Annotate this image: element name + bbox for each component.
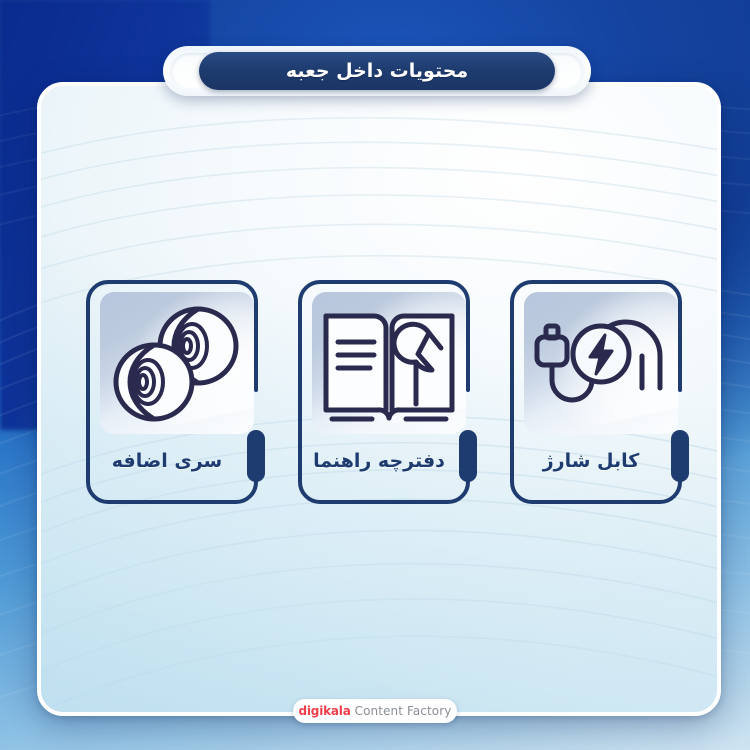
title-pill: محتویات داخل جعبه — [199, 52, 555, 90]
slide-canvas: محتویات داخل جعبه — [0, 0, 750, 750]
footer-brand-badge: digikala Content Factory — [293, 699, 457, 723]
title-banner: محتویات داخل جعبه — [163, 46, 591, 96]
manual-book-wrench-icon — [312, 292, 466, 434]
page-title: محتویات داخل جعبه — [286, 60, 468, 82]
card-user-manual[interactable]: دفترچه راهنما — [298, 278, 480, 506]
extra-ear-tips-icon — [100, 292, 254, 434]
content-factory-text: Content Factory — [355, 704, 452, 718]
digikala-logo-text: digikala — [299, 704, 351, 718]
card-label-charging-cable: کابل شارژ — [510, 450, 672, 472]
card-label-user-manual: دفترچه راهنما — [298, 450, 460, 472]
card-charging-cable[interactable]: کابل شارژ — [510, 278, 692, 506]
card-row: کابل شارژ — [66, 278, 692, 506]
card-extra-ear-tips[interactable]: سری اضافه — [86, 278, 268, 506]
card-label-extra-ear-tips: سری اضافه — [86, 450, 248, 472]
charging-cable-icon — [524, 292, 678, 434]
